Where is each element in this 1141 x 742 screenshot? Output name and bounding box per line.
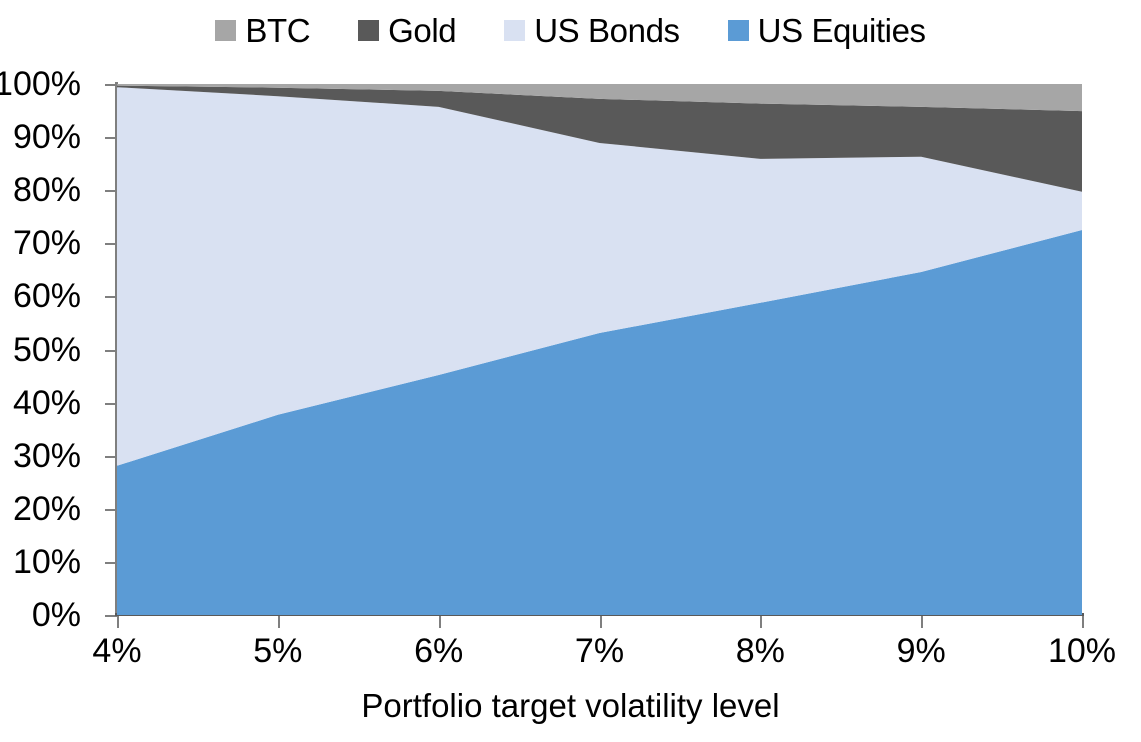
x-axis-tick-mark bbox=[278, 616, 280, 628]
x-axis-tick-mark bbox=[600, 616, 602, 628]
legend-item-gold[interactable]: Gold bbox=[358, 14, 456, 47]
legend-swatch-icon bbox=[504, 20, 525, 41]
y-axis-tick-label: 50% bbox=[13, 333, 81, 367]
x-axis-tick-label: 8% bbox=[736, 634, 785, 668]
y-axis-tick-label: 20% bbox=[13, 492, 81, 526]
y-axis-tick-label: 80% bbox=[13, 173, 81, 207]
y-axis-tick-label: 0% bbox=[32, 598, 81, 632]
legend-swatch-icon bbox=[358, 20, 379, 41]
y-axis-tick-label: 90% bbox=[13, 120, 81, 154]
x-axis-tick-mark bbox=[1082, 616, 1084, 628]
x-axis-tick-label: 9% bbox=[897, 634, 946, 668]
y-axis-tick-label: 10% bbox=[13, 545, 81, 579]
legend-swatch-icon bbox=[728, 20, 749, 41]
legend-swatch-icon bbox=[215, 20, 236, 41]
x-axis-tick-mark bbox=[921, 616, 923, 628]
y-axis-tick-label: 40% bbox=[13, 386, 81, 420]
legend-label: Gold bbox=[388, 14, 456, 47]
x-axis-tick-mark bbox=[760, 616, 762, 628]
legend-item-us-bonds[interactable]: US Bonds bbox=[504, 14, 679, 47]
x-axis-tick-label: 4% bbox=[92, 634, 141, 668]
y-axis-tick-label: 60% bbox=[13, 279, 81, 313]
area-series-svg bbox=[117, 84, 1082, 615]
x-axis-tick-label: 5% bbox=[253, 634, 302, 668]
legend-item-us-equities[interactable]: US Equities bbox=[728, 14, 926, 47]
x-axis-tick-mark bbox=[117, 616, 119, 628]
x-axis-tick-label: 10% bbox=[1048, 634, 1116, 668]
legend-label: US Equities bbox=[758, 14, 926, 47]
x-axis-tick-label: 7% bbox=[575, 634, 624, 668]
y-axis-tick-label: 100% bbox=[0, 67, 81, 101]
y-axis-tick-label: 70% bbox=[13, 226, 81, 260]
stacked-area-chart: BTCGoldUS BondsUS Equities 0%10%20%30%40… bbox=[0, 0, 1141, 742]
x-axis-title: Portfolio target volatility level bbox=[0, 688, 1141, 724]
y-axis-tick-label: 30% bbox=[13, 439, 81, 473]
plot-area bbox=[117, 84, 1082, 615]
x-axis-tick-mark bbox=[439, 616, 441, 628]
legend-item-btc[interactable]: BTC bbox=[215, 14, 310, 47]
x-axis-tick-label: 6% bbox=[414, 634, 463, 668]
legend-label: US Bonds bbox=[534, 14, 679, 47]
legend-label: BTC bbox=[245, 14, 310, 47]
chart-legend: BTCGoldUS BondsUS Equities bbox=[0, 8, 1141, 52]
